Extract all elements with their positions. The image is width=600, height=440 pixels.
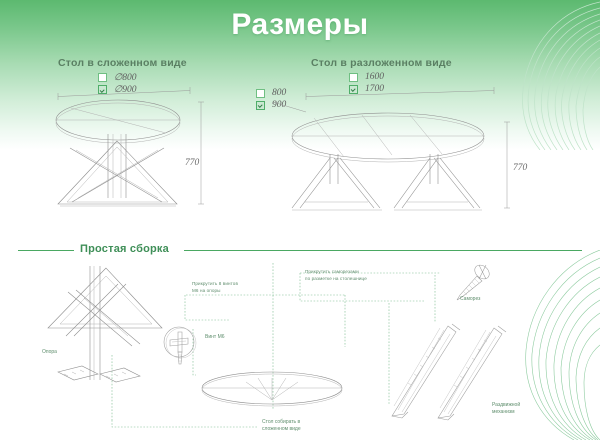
option-length-1600[interactable]: 1600: [349, 72, 384, 82]
unfolded-table-drawing: [270, 84, 530, 214]
slide-mechanism-drawing: [378, 320, 508, 430]
tabletop-underside-drawing: [200, 368, 350, 418]
part-label-assembly-note: Стол собирать в сложенном виде: [262, 419, 301, 434]
part-label-mechanism: Раздвижной механизм: [492, 402, 520, 417]
option-label: 1600: [365, 72, 384, 82]
poster-canvas: Размеры Стол в сложенном виде ∅800 ∅900 …: [0, 0, 600, 440]
option-diameter-800[interactable]: ∅800: [98, 72, 137, 83]
dimension-height-unfolded: 770: [513, 163, 527, 173]
assembly-heading: Простая сборка: [80, 243, 169, 255]
part-label-screw: Саморез: [460, 296, 480, 303]
option-label: ∅800: [114, 72, 137, 83]
dimension-height-folded: 770: [185, 158, 199, 168]
callout-screw-instruction: Прикрутить саморезами по разметке на сто…: [305, 269, 367, 282]
section-heading-folded: Стол в сложенном виде: [58, 57, 187, 69]
checkbox-width-900[interactable]: [256, 101, 265, 110]
folded-table-drawing: [40, 86, 240, 211]
checkbox-length-1600[interactable]: [349, 73, 358, 82]
section-heading-unfolded: Стол в разложенном виде: [311, 57, 452, 69]
part-label-support: Опора: [42, 349, 57, 356]
bolt-m6-drawing: [158, 322, 204, 368]
checkbox-width-800[interactable]: [256, 89, 265, 98]
checkbox-diameter-800[interactable]: [98, 73, 107, 82]
page-title: Размеры: [0, 8, 600, 42]
callout-bolt-instruction: Прикрутить 8 винтов М6 на опоры: [192, 281, 238, 294]
part-label-bolt: Винт М6: [205, 334, 225, 341]
